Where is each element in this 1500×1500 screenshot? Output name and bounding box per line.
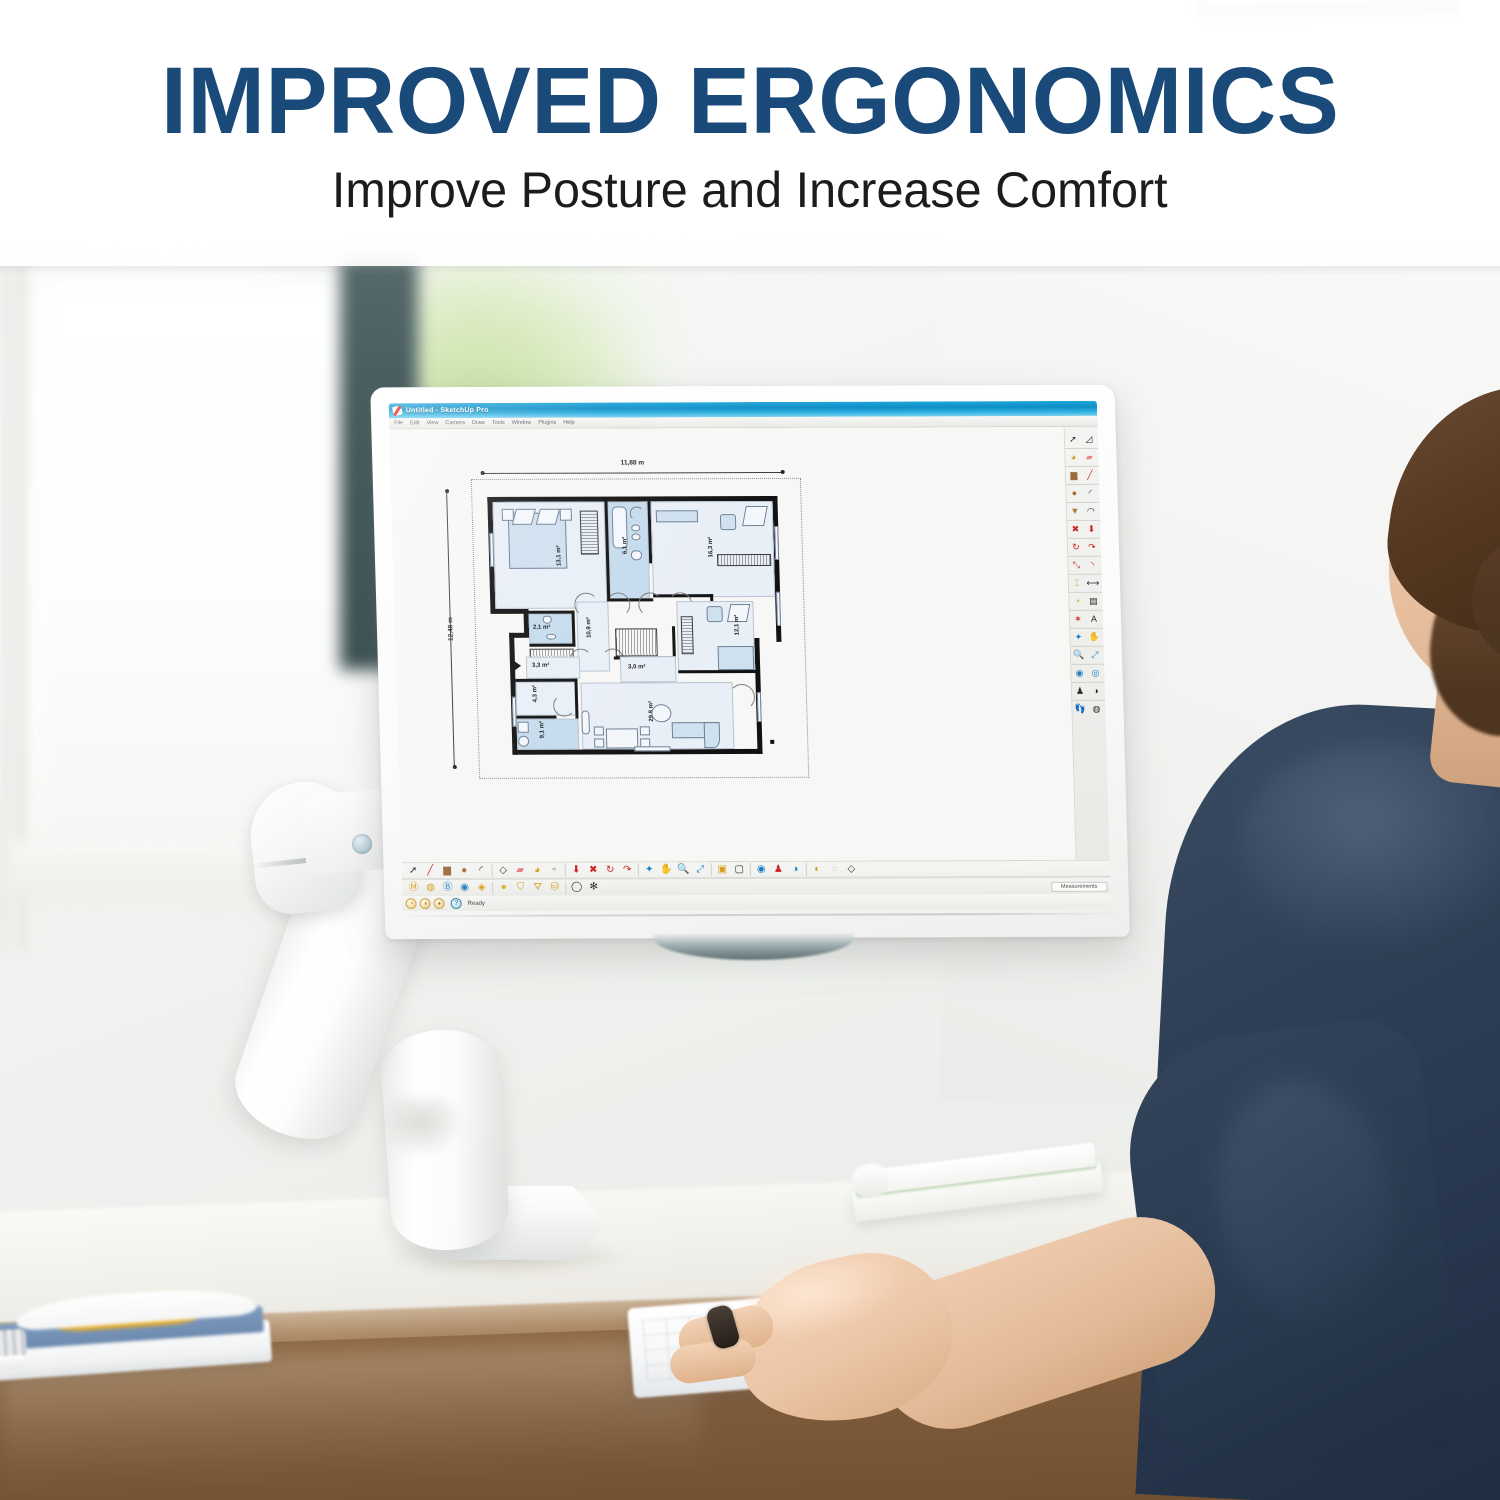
room-area-label: 4,3 m² xyxy=(532,685,538,702)
interior-wall xyxy=(574,679,578,719)
tool-group[interactable]: ➚ ◿ xyxy=(1065,431,1099,449)
dimension-endpoint xyxy=(481,471,485,475)
dimension-top: 11,88 m xyxy=(482,466,782,477)
materials-icon[interactable]: Ⓑ xyxy=(439,880,456,895)
move-icon[interactable]: ✖ xyxy=(1067,522,1083,537)
text-icon[interactable]: ▤ xyxy=(1085,594,1101,609)
banner-drop-shadow xyxy=(0,266,1500,275)
layers-icon[interactable]: ◈ xyxy=(473,880,490,895)
rectangle-icon[interactable]: ▆ xyxy=(438,863,455,878)
entity-info-icon[interactable]: ◍ xyxy=(422,881,439,896)
three-d-text-icon[interactable]: A xyxy=(1086,612,1102,627)
position-camera-icon[interactable]: ◉ xyxy=(753,862,770,877)
push-pull-icon[interactable]: ⬇ xyxy=(568,863,585,878)
dimension-line xyxy=(483,472,783,474)
soften-edges-icon[interactable]: ◇ xyxy=(843,862,860,877)
instructor-icon[interactable]: ✻ xyxy=(585,880,602,895)
measurements-label: Measurements xyxy=(1061,884,1098,890)
tool-group[interactable]: ◉ ◎ xyxy=(1071,665,1105,683)
door-swing-arc xyxy=(574,593,599,617)
toolbar-separator xyxy=(492,881,493,894)
pan-icon[interactable]: ✋ xyxy=(658,862,675,877)
freehand-icon[interactable]: ◠ xyxy=(1083,504,1099,519)
furniture-sink-unit xyxy=(518,722,529,733)
eraser-pink-icon[interactable]: ▰ xyxy=(512,863,529,878)
menu-item-draw[interactable]: Draw xyxy=(472,420,485,426)
window-opening xyxy=(512,697,517,727)
furniture-toilet xyxy=(631,550,642,560)
scenes-icon[interactable]: ⛁ xyxy=(546,880,563,895)
question-mark-icon[interactable]: ? xyxy=(450,898,461,909)
window-opening xyxy=(634,746,670,751)
door-swing-arc xyxy=(638,592,663,616)
dimension-left: 12,48 m xyxy=(441,491,459,767)
zoom-icon[interactable]: 🔍 xyxy=(1071,648,1087,663)
arc-icon[interactable]: ◜ xyxy=(473,863,490,878)
door-swing-arc xyxy=(729,684,756,710)
soften-icon[interactable]: ◯ xyxy=(568,880,585,895)
house-outline: 13,1 m² 6,1 m² xyxy=(487,496,784,759)
furniture-wardrobe xyxy=(681,616,694,654)
zoom-extents-icon[interactable]: ⤢ xyxy=(1087,648,1103,663)
toolbar-separator xyxy=(492,864,493,877)
walk-icon[interactable]: ♟ xyxy=(1072,684,1088,699)
tool-group[interactable]: ▆ ╱ xyxy=(1066,467,1100,485)
rectangle-icon[interactable]: ▆ xyxy=(1066,468,1082,483)
interior-wall xyxy=(529,644,575,647)
dimension-endpoint xyxy=(445,489,449,493)
interior-wall xyxy=(672,626,676,659)
eraser-icon[interactable]: ◿ xyxy=(1081,432,1097,447)
furniture-sink xyxy=(631,524,640,531)
measurements-row: Ⓜ ◍ Ⓑ ◉ ◈ ● ⛉ ⛛ ⛁ ◯ ✻ xyxy=(402,877,1111,896)
layer-icon[interactable]: ◔ xyxy=(405,898,416,909)
tool-group[interactable]: ⌶ ⟷ xyxy=(1069,575,1103,593)
zoom-icon[interactable]: 🔍 xyxy=(675,862,692,877)
furniture-closet xyxy=(717,554,771,566)
tool-group[interactable]: ⤡ ◝ xyxy=(1068,557,1102,575)
dimension-endpoint xyxy=(452,765,456,769)
page-icon[interactable]: ▢ xyxy=(731,862,748,877)
orbit-icon[interactable]: ✦ xyxy=(641,862,658,877)
entry-direction-marker xyxy=(514,661,521,671)
orbit-icon[interactable]: ✦ xyxy=(1070,630,1086,645)
arm-elbow-shadow xyxy=(378,1098,464,1158)
floor-plan-drawing: 11,88 m 12,48 m xyxy=(426,453,1061,848)
interior-wall xyxy=(678,670,758,673)
door-swing-arc xyxy=(606,592,631,616)
toolbar-separator xyxy=(806,863,807,876)
tool-group[interactable]: 🔍 ⤢ xyxy=(1071,647,1105,665)
arc-icon[interactable]: ◜ xyxy=(1082,486,1098,501)
room-area-label: 12,1 m² xyxy=(734,615,741,636)
outliner-icon[interactable]: ⛛ xyxy=(529,880,546,895)
room-area-label: 3,0 m² xyxy=(628,664,646,670)
protractor-icon[interactable]: ◔ xyxy=(1069,594,1085,609)
measurements-box[interactable]: Measurements xyxy=(1051,882,1108,892)
furniture-chair xyxy=(640,726,650,735)
room-area-label: 13,1 m² xyxy=(556,545,563,566)
banner-subheadline: Improve Posture and Increase Comfort xyxy=(332,161,1168,219)
styles-toolbar[interactable]: Ⓜ ◍ Ⓑ ◉ ◈ ● ⛉ ⛛ ⛁ ◯ ✻ xyxy=(402,879,606,896)
status-bar: ◔ ◑ ◕ ? Ready xyxy=(402,894,1111,911)
select-arrow-icon[interactable]: ➚ xyxy=(1065,432,1081,447)
banner-headline: IMPROVED ERGONOMICS xyxy=(161,54,1339,149)
furniture-cabinet xyxy=(581,711,590,735)
tool-group[interactable]: ✖ ⬇ xyxy=(1067,521,1101,539)
position-camera-icon[interactable]: ◉ xyxy=(1071,666,1087,681)
look-around-icon[interactable]: ◎ xyxy=(1087,666,1103,681)
tool-group[interactable]: ◕ ▰ xyxy=(1065,449,1099,467)
toolbar-separator xyxy=(565,864,566,877)
polygon-icon[interactable]: ▼ xyxy=(1067,504,1083,519)
furniture-nightstand xyxy=(560,509,572,521)
room-area-label: 6,1 m² xyxy=(622,537,628,554)
drawing-canvas[interactable]: 11,88 m 12,48 m xyxy=(389,427,1075,862)
component-icon[interactable]: ⛉ xyxy=(512,880,529,895)
monitor-screen: Untitled - SketchUp Pro File Edit View C… xyxy=(389,401,1111,911)
walk-figure-icon[interactable]: 👣 xyxy=(1072,702,1088,717)
pan-icon[interactable]: ✋ xyxy=(1086,630,1102,645)
follow-me-icon[interactable]: ↷ xyxy=(619,862,636,877)
arm-adjustment-screw-icon[interactable] xyxy=(352,834,372,854)
paint-bucket-icon[interactable]: ◕ xyxy=(529,863,546,878)
axes-icon[interactable]: ✶ xyxy=(1070,612,1086,627)
tool-group[interactable]: ▼ ◠ xyxy=(1067,503,1101,521)
furniture-sink xyxy=(631,533,640,540)
tool-group[interactable]: 👣 ◍ xyxy=(1072,701,1105,718)
menu-item-plugins[interactable]: Plugins xyxy=(538,420,556,426)
dimension-label-width: 11,88 m xyxy=(621,459,645,466)
push-pull-icon[interactable]: ⬇ xyxy=(1083,522,1099,537)
furniture-pillow xyxy=(536,509,560,525)
room-area-label: 10,9 m² xyxy=(586,617,593,638)
walk-icon[interactable]: ♟ xyxy=(770,862,787,877)
zoom-extents-icon[interactable]: ⤢ xyxy=(692,862,709,877)
room-area-label: 16,3 m² xyxy=(708,537,715,558)
window-opening xyxy=(757,692,762,722)
toolbar-separator xyxy=(638,863,639,876)
tool-group[interactable]: ● ◜ xyxy=(1066,485,1100,503)
paint-bucket-icon[interactable]: ◕ xyxy=(1065,450,1081,465)
follow-me-icon[interactable]: ↷ xyxy=(1084,540,1100,555)
window-title: Untitled - SketchUp Pro xyxy=(406,407,489,414)
dimension-icon[interactable]: ⟷ xyxy=(1085,576,1101,591)
fog-icon[interactable]: ◌ xyxy=(826,862,843,877)
section-display-icon[interactable]: ◍ xyxy=(1088,702,1104,717)
furniture-chair xyxy=(594,738,604,747)
paint-can-icon[interactable]: ◓ xyxy=(546,863,563,878)
section-plane-icon[interactable]: ◑ xyxy=(787,862,804,877)
room-area-label: 3,3 m² xyxy=(532,663,550,669)
bottom-toolbars: ➚ ╱ ▆ ● ◜ ◇ ▰ ◕ ◓ ⬇ ✖ ↻ ↷ xyxy=(401,860,1111,911)
eraser-icon[interactable]: ◇ xyxy=(495,863,512,878)
rotate-icon[interactable]: ↻ xyxy=(1068,540,1084,555)
tool-group[interactable]: ↻ ↷ xyxy=(1068,539,1102,557)
interior-wall xyxy=(528,611,574,614)
status-message: Ready xyxy=(468,900,486,906)
menu-item-window[interactable]: Window xyxy=(512,420,532,426)
furniture-sink-arc xyxy=(630,506,644,520)
furniture-desk xyxy=(656,510,698,522)
interior-wall xyxy=(515,679,577,682)
toolbar-separator xyxy=(711,863,712,876)
menu-item-file[interactable]: File xyxy=(394,420,403,426)
info-icon[interactable]: ◑ xyxy=(419,898,430,909)
furniture-wardrobe xyxy=(580,511,599,555)
furniture-chair xyxy=(594,726,604,735)
sketchup-application: Untitled - SketchUp Pro File Edit View C… xyxy=(389,401,1111,911)
menu-item-camera[interactable]: Camera xyxy=(445,420,465,426)
furniture-pillow xyxy=(512,509,536,525)
pencil-line-icon[interactable]: ╱ xyxy=(1082,468,1098,483)
menu-item-tools[interactable]: Tools xyxy=(492,420,505,426)
context-icon[interactable]: ◕ xyxy=(433,898,444,909)
menu-item-view[interactable]: View xyxy=(426,420,438,426)
furniture-armchair xyxy=(720,514,736,530)
section-plane-icon[interactable]: ◑ xyxy=(1088,684,1104,699)
room-area-label: 9,1 m² xyxy=(539,721,545,738)
move-icon[interactable]: ✖ xyxy=(585,862,602,877)
circle-icon[interactable]: ● xyxy=(1066,486,1082,501)
dimension-label-height: 12,48 m xyxy=(447,617,455,641)
scale-icon[interactable]: ⤡ xyxy=(1068,558,1084,573)
scene-icon[interactable]: ▣ xyxy=(714,862,731,877)
toolbar-separator xyxy=(565,881,566,894)
tool-group[interactable]: ✦ ✋ xyxy=(1070,629,1104,647)
rotate-icon[interactable]: ↻ xyxy=(602,862,619,877)
tool-group[interactable]: ♟ ◑ xyxy=(1072,683,1106,701)
shadow-icon[interactable]: ◐ xyxy=(809,862,826,877)
select-arrow-icon[interactable]: ➚ xyxy=(404,863,421,878)
furniture-sofa-chaise xyxy=(704,722,721,748)
furniture-toilet xyxy=(543,616,552,624)
staircase xyxy=(615,628,658,656)
furniture-basin xyxy=(546,634,556,640)
tape-measure-icon[interactable]: ⌶ xyxy=(1069,576,1085,591)
selection-grip[interactable] xyxy=(770,740,774,744)
menu-item-help[interactable]: Help xyxy=(563,420,574,426)
toolbar-separator xyxy=(750,863,751,876)
eraser-pink-icon[interactable]: ▰ xyxy=(1081,450,1097,465)
door-swing-arc xyxy=(553,695,576,717)
workspace: 11,88 m 12,48 m xyxy=(389,427,1109,862)
furniture-armchair xyxy=(706,606,722,622)
marketing-banner: IMPROVED ERGONOMICS Improve Posture and … xyxy=(0,0,1500,266)
tool-group[interactable]: ✶ A xyxy=(1070,611,1104,629)
circle-icon[interactable]: ● xyxy=(455,863,472,878)
room-area-label: 2,1 m² xyxy=(533,625,551,631)
furniture-bed xyxy=(718,646,755,670)
furniture-cooktop xyxy=(518,736,529,747)
model-info-icon[interactable]: Ⓜ xyxy=(405,881,422,896)
furniture-desk-unit xyxy=(742,506,768,526)
offset-icon[interactable]: ◝ xyxy=(1084,558,1100,573)
tool-group[interactable]: ◔ ▤ xyxy=(1069,593,1103,611)
interior-wall xyxy=(571,611,575,647)
menu-item-edit[interactable]: Edit xyxy=(410,420,420,426)
computer-monitor: Untitled - SketchUp Pro File Edit View C… xyxy=(370,385,1130,939)
styles-icon[interactable]: ◉ xyxy=(456,880,473,895)
pencil-line-icon[interactable]: ╱ xyxy=(421,863,438,878)
dimension-endpoint xyxy=(781,470,785,474)
sketchup-logo-icon xyxy=(392,405,403,416)
shadow-settings-icon[interactable]: ● xyxy=(495,880,512,895)
furniture-round-table xyxy=(651,704,672,722)
